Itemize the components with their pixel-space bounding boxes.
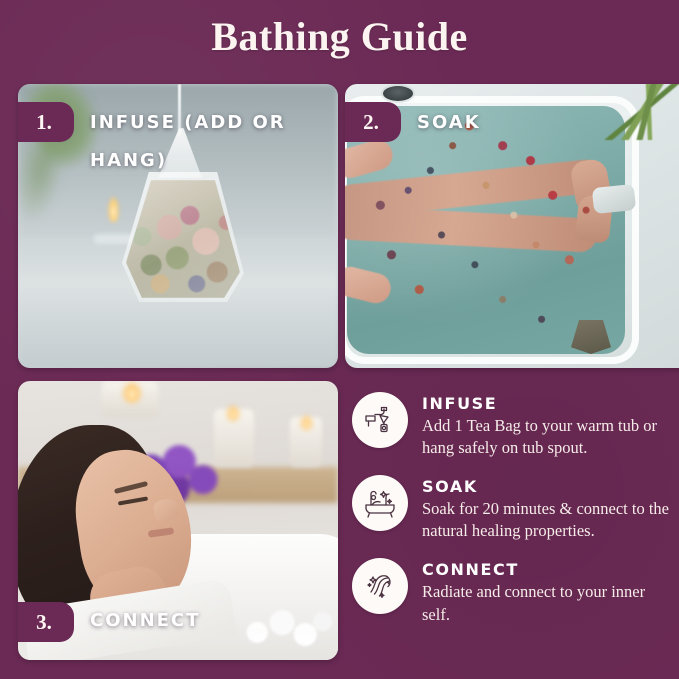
instruction-title: INFUSE	[422, 394, 672, 414]
step-panel-connect: 3. CONNECT	[18, 381, 338, 660]
person-in-bathtub-icon	[352, 475, 408, 531]
instruction-item-connect: CONNECT Radiate and connect to your inne…	[352, 558, 672, 625]
step-number-badge-1: 1.	[18, 102, 74, 142]
instruction-item-infuse: INFUSE Add 1 Tea Bag to your warm tub or…	[352, 392, 672, 459]
instruction-description: Radiate and connect to your inner self.	[422, 581, 672, 625]
instruction-title: SOAK	[422, 477, 672, 497]
instruction-description: Add 1 Tea Bag to your warm tub or hang s…	[422, 415, 672, 459]
step-caption-1: INFUSE (ADD OR HANG)	[90, 104, 338, 180]
step-caption-3: CONNECT	[90, 602, 200, 640]
step-panel-infuse: 1. INFUSE (ADD OR HANG)	[18, 84, 338, 368]
step-panel-soak: 2. SOAK	[345, 84, 679, 368]
step-caption-2: SOAK	[417, 104, 481, 142]
bathing-guide-page: Bathing Guide 1. INFUSE (ADD OR HANG)	[0, 0, 679, 679]
face-profile-sparkle-icon	[352, 558, 408, 614]
instruction-item-soak: SOAK Soak for 20 minutes & connect to th…	[352, 475, 672, 542]
instruction-description: Soak for 20 minutes & connect to the nat…	[422, 498, 672, 542]
instruction-title: CONNECT	[422, 560, 672, 580]
instructions-list: INFUSE Add 1 Tea Bag to your warm tub or…	[352, 392, 672, 642]
faucet-teabag-icon	[352, 392, 408, 448]
page-title: Bathing Guide	[0, 14, 679, 60]
step-number-badge-2: 2.	[345, 102, 401, 142]
step-number-badge-3: 3.	[18, 602, 74, 642]
